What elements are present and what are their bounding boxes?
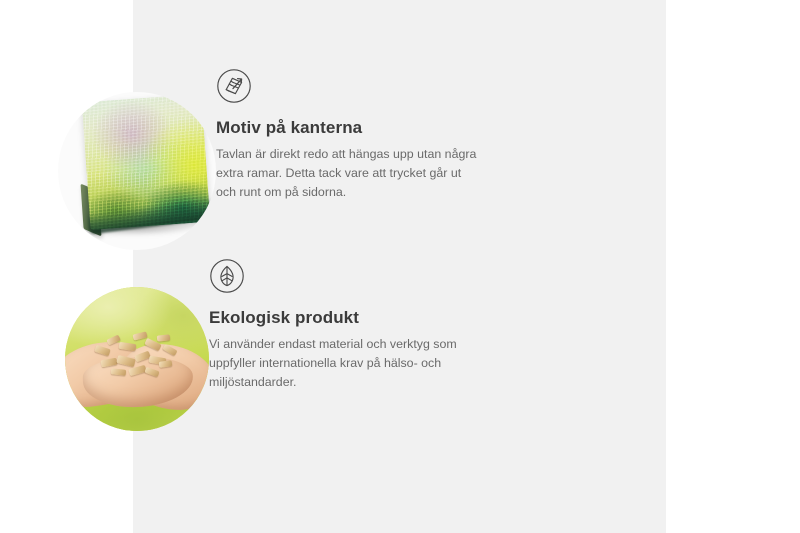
feature-title: Motiv på kanterna	[216, 118, 484, 138]
canvas-artwork	[82, 94, 211, 230]
feature-text-eco: Ekologisk produkt Vi använder endast mat…	[209, 250, 477, 392]
product-feature-infographic: Motiv på kanterna Tavlan är direkt redo …	[0, 0, 800, 533]
feature-body: Vi använder endast material och verktyg …	[209, 335, 477, 392]
canvas-wrapped-edge-icon	[216, 68, 252, 104]
feature-text-edges: Motiv på kanterna Tavlan är direkt redo …	[216, 60, 484, 202]
feature-title: Ekologisk produkt	[209, 308, 477, 328]
wood-chips	[89, 327, 189, 383]
feature-block-edges: Motiv på kanterna Tavlan är direkt redo …	[0, 60, 484, 250]
feature-body: Tavlan är direkt redo att hängas upp uta…	[216, 145, 484, 202]
canvas-print-photo-wrap	[0, 60, 216, 250]
feature-block-eco: Ekologisk produkt Vi använder endast mat…	[0, 250, 477, 431]
canvas-print-photo	[58, 92, 216, 250]
eco-wood-chips-photo-wrap	[0, 250, 209, 431]
eco-wood-chips-photo	[65, 287, 209, 431]
leaf-icon	[209, 258, 245, 294]
